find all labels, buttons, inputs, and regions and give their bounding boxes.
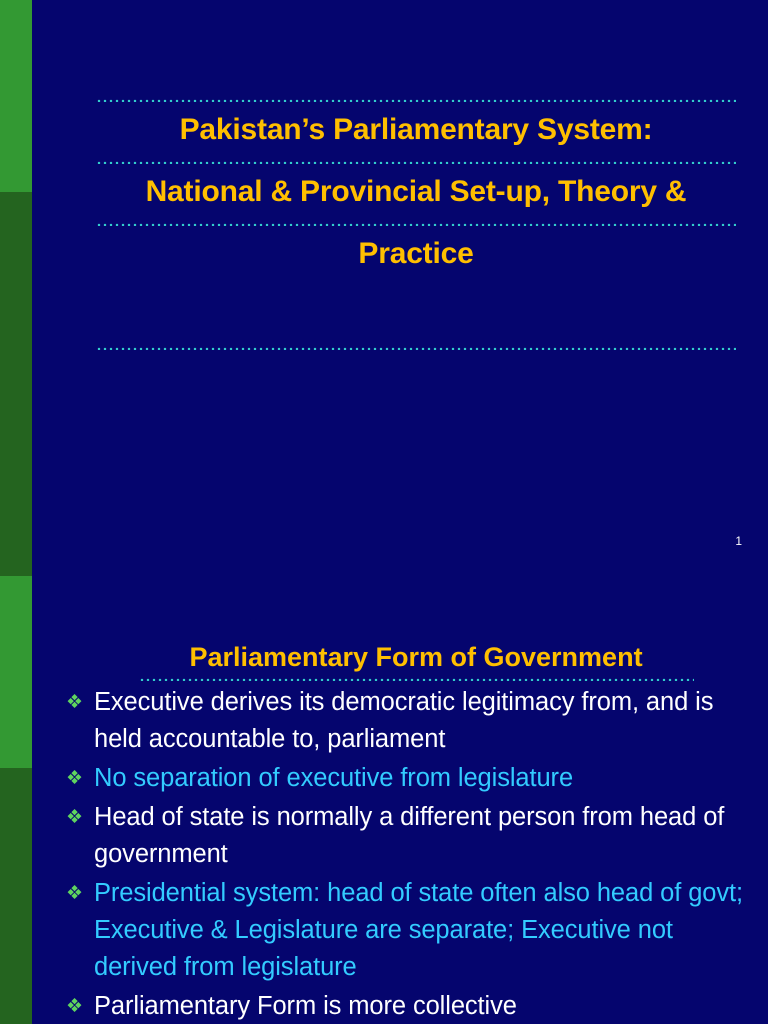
bullet-item: ❖No separation of executive from legisla… bbox=[62, 760, 762, 797]
bullet-diamond-icon: ❖ bbox=[62, 875, 94, 912]
rail-segment-2 bbox=[0, 192, 32, 576]
presentation-deck: Pakistan’s Parliamentary System: Nationa… bbox=[0, 0, 768, 1024]
rail-segment-4 bbox=[0, 768, 32, 1024]
bullet-text: Presidential system: head of state often… bbox=[94, 875, 762, 986]
bullet-item: ❖Presidential system: head of state ofte… bbox=[62, 875, 762, 986]
decorative-green-rail bbox=[0, 0, 32, 1024]
bullet-diamond-icon: ❖ bbox=[62, 988, 94, 1024]
bullet-item: ❖Executive derives its democratic legiti… bbox=[62, 684, 762, 758]
slide-heading-block: Parliamentary Form of Government bbox=[96, 640, 736, 681]
bullet-item: ❖Head of state is normally a different p… bbox=[62, 799, 762, 873]
title-line-1: Pakistan’s Parliamentary System: bbox=[96, 102, 736, 158]
title-line-2: National & Provincial Set-up, Theory & bbox=[96, 164, 736, 220]
bullet-diamond-icon: ❖ bbox=[62, 760, 94, 797]
title-line-3: Practice bbox=[96, 226, 736, 282]
bullet-list: ❖Executive derives its democratic legiti… bbox=[62, 684, 762, 1024]
title-spacer bbox=[96, 282, 736, 344]
title-block: Pakistan’s Parliamentary System: Nationa… bbox=[96, 96, 736, 350]
rail-segment-1 bbox=[0, 0, 32, 192]
bullet-item: ❖Parliamentary Form is more collective bbox=[62, 988, 762, 1024]
heading-dotted-rule bbox=[139, 675, 694, 681]
bullet-diamond-icon: ❖ bbox=[62, 684, 94, 721]
slide-parliamentary-form: Parliamentary Form of Government ❖Execut… bbox=[0, 576, 768, 1024]
slide-page-number: 1 bbox=[735, 534, 742, 548]
bullet-text: Head of state is normally a different pe… bbox=[94, 799, 762, 873]
slide-heading-text: Parliamentary Form of Government bbox=[189, 640, 642, 674]
slide-title: Pakistan’s Parliamentary System: Nationa… bbox=[0, 0, 768, 576]
bullet-text: Executive derives its democratic legitim… bbox=[94, 684, 762, 758]
bullet-text: No separation of executive from legislat… bbox=[94, 760, 762, 797]
bullet-diamond-icon: ❖ bbox=[62, 799, 94, 836]
dotted-rule-bottom bbox=[96, 344, 736, 350]
rail-segment-3 bbox=[0, 576, 32, 768]
bullet-text: Parliamentary Form is more collective bbox=[94, 988, 762, 1024]
